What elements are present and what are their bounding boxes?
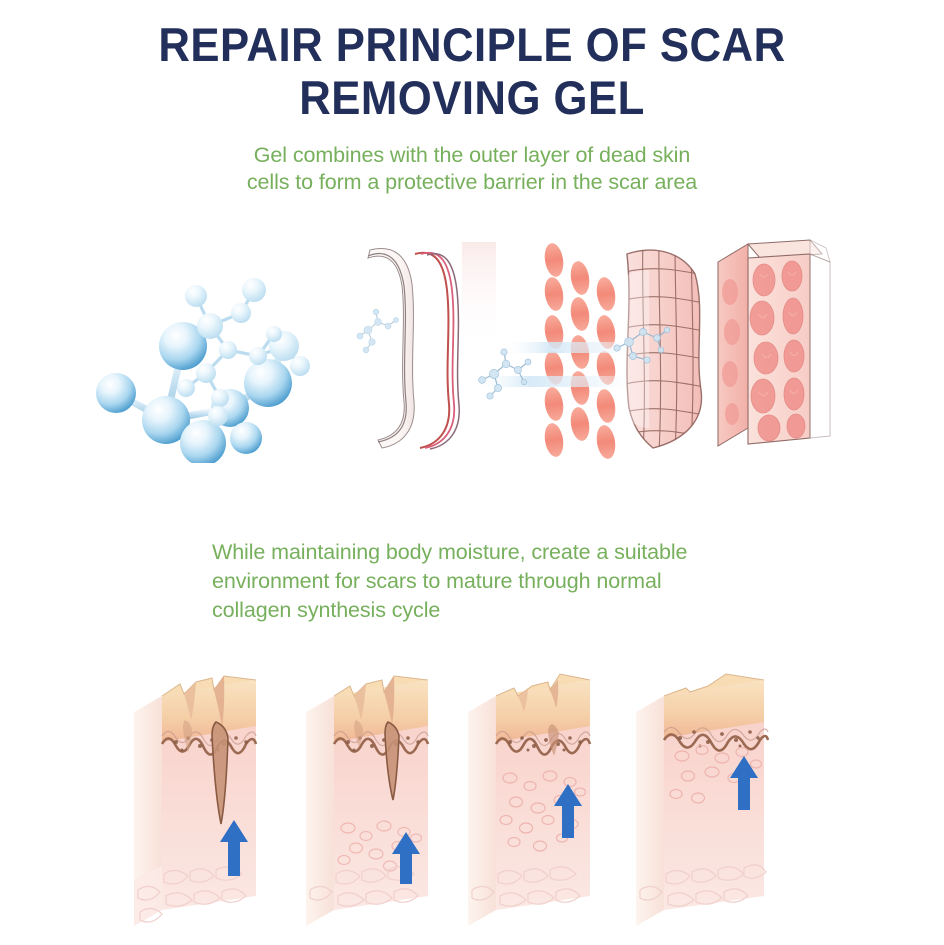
skin-barrier-slab-icon [352, 242, 462, 462]
mesh-grid-panel-icon [613, 240, 728, 465]
skin-stage-3 [462, 660, 622, 945]
illustration-row [0, 228, 944, 478]
skin-stage-2 [300, 660, 460, 945]
moisture-line-2: environment for scars to mature through … [212, 567, 832, 596]
moisture-line-3: collagen synthesis cycle [212, 596, 832, 625]
title-line-1: REPAIR PRINCIPLE OF SCAR [33, 18, 911, 71]
collagen-fibers-icon [462, 236, 637, 466]
page-title: REPAIR PRINCIPLE OF SCAR REMOVING GEL [0, 18, 944, 124]
title-line-2: REMOVING GEL [33, 71, 911, 124]
moisture-line-1: While maintaining body moisture, create … [212, 538, 832, 567]
skin-stage-1 [128, 660, 288, 945]
intro-line-2: cells to form a protective barrier in th… [0, 169, 944, 196]
skin-stage-4 [630, 660, 800, 945]
intro-line-1: Gel combines with the outer layer of dea… [0, 142, 944, 169]
molecule-cluster-icon [78, 238, 323, 468]
poster-page: REPAIR PRINCIPLE OF SCAR REMOVING GEL Ge… [0, 0, 944, 944]
tissue-block-icon [714, 232, 839, 467]
intro-paragraph: Gel combines with the outer layer of dea… [0, 142, 944, 196]
skin-stage-row [0, 660, 944, 944]
moisture-paragraph: While maintaining body moisture, create … [212, 538, 832, 625]
